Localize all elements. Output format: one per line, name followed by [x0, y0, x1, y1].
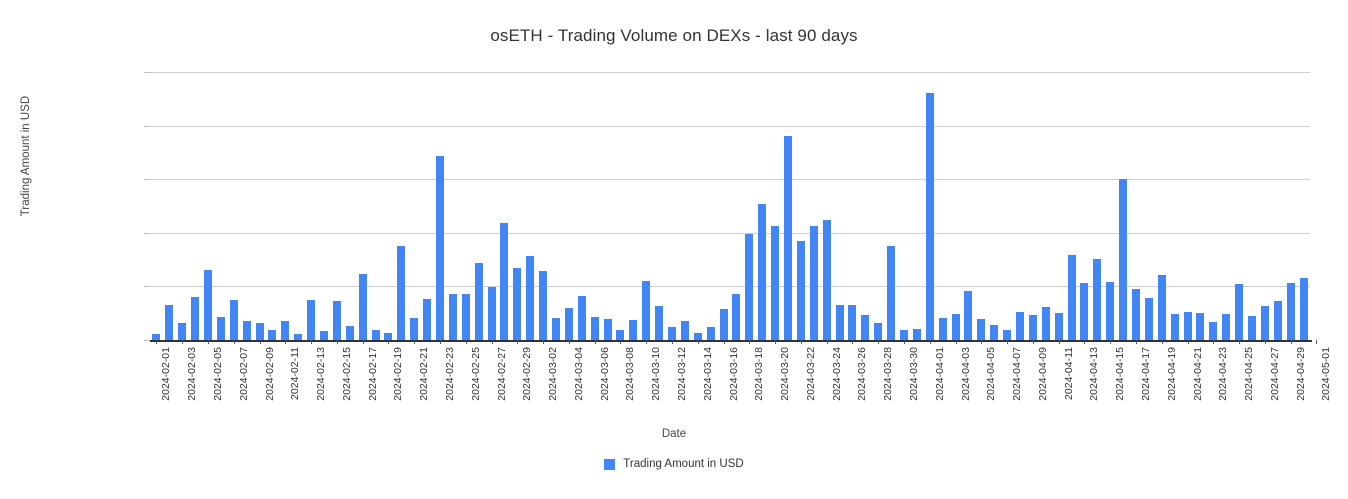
x-tick-mark	[208, 340, 209, 344]
bar[interactable]	[243, 321, 251, 340]
x-tick-label: 2024-02-23	[444, 347, 456, 401]
legend-swatch-icon	[604, 459, 615, 470]
bar[interactable]	[720, 309, 728, 340]
bar[interactable]	[1171, 314, 1179, 340]
legend-item[interactable]: Trading Amount in USD	[604, 458, 743, 470]
bar[interactable]	[694, 333, 702, 341]
x-tick-mark	[517, 340, 518, 344]
x-tick-label: 2024-04-05	[985, 347, 997, 401]
x-tick-mark	[595, 340, 596, 344]
bar[interactable]	[745, 234, 753, 340]
x-tick-label: 2024-03-14	[702, 347, 714, 401]
bar[interactable]	[526, 256, 534, 340]
bar[interactable]	[165, 305, 173, 340]
x-tick-label: 2024-03-28	[882, 347, 894, 401]
bar[interactable]	[642, 281, 650, 340]
bar[interactable]	[539, 271, 547, 340]
bar[interactable]	[732, 294, 740, 340]
x-tick-mark	[956, 340, 957, 344]
x-tick-label: 2024-04-13	[1088, 347, 1100, 401]
x-tick-label: 2024-03-02	[547, 347, 559, 401]
x-tick-mark	[466, 340, 467, 344]
gridline	[150, 179, 1310, 180]
bar[interactable]	[230, 300, 238, 340]
bar[interactable]	[939, 318, 947, 341]
bar[interactable]	[320, 331, 328, 340]
x-tick-label: 2024-03-20	[779, 347, 791, 401]
bar[interactable]	[810, 226, 818, 340]
x-tick-mark	[182, 340, 183, 344]
x-tick-mark	[1188, 340, 1189, 344]
x-tick-mark	[801, 340, 802, 344]
bar[interactable]	[178, 323, 186, 340]
x-tick-mark	[646, 340, 647, 344]
bar[interactable]	[952, 314, 960, 340]
x-tick-label: 2024-04-03	[960, 347, 972, 401]
bar[interactable]	[204, 270, 212, 340]
bar[interactable]	[1132, 289, 1140, 340]
x-tick-mark	[1059, 340, 1060, 344]
bar[interactable]	[977, 319, 985, 340]
x-tick-mark	[1265, 340, 1266, 344]
y-tick-mark	[144, 179, 150, 180]
bar[interactable]	[797, 241, 805, 340]
x-tick-mark	[1110, 340, 1111, 344]
bar[interactable]	[1106, 282, 1114, 340]
chart-legend: Trading Amount in USD	[0, 458, 1348, 473]
x-tick-label: 2024-03-12	[676, 347, 688, 401]
bar[interactable]	[823, 220, 831, 340]
bar[interactable]	[333, 301, 341, 340]
x-tick-mark	[1291, 340, 1292, 344]
x-tick-mark	[285, 340, 286, 344]
x-tick-mark	[363, 340, 364, 344]
y-tick-mark	[144, 126, 150, 127]
bar[interactable]	[604, 319, 612, 340]
bar[interactable]	[848, 305, 856, 340]
bar[interactable]	[372, 330, 380, 340]
bar[interactable]	[1003, 330, 1011, 340]
x-tick-label: 2024-05-01	[1320, 347, 1332, 401]
gridline	[150, 233, 1310, 234]
bar[interactable]	[1222, 314, 1230, 340]
x-tick-label: 2024-04-01	[934, 347, 946, 401]
bar[interactable]	[1029, 315, 1037, 340]
bar[interactable]	[1196, 313, 1204, 340]
x-tick-mark	[311, 340, 312, 344]
bar[interactable]	[990, 325, 998, 340]
y-axis-title: Trading Amount in USD	[20, 46, 32, 266]
x-tick-label: 2024-03-16	[728, 347, 740, 401]
bar[interactable]	[384, 333, 392, 341]
bar[interactable]	[887, 246, 895, 340]
x-tick-label: 2024-02-01	[160, 347, 172, 401]
x-tick-mark	[827, 340, 828, 344]
bar[interactable]	[1145, 298, 1153, 340]
x-tick-label: 2024-03-24	[831, 347, 843, 401]
bar[interactable]	[1016, 312, 1024, 340]
chart-container: osETH - Trading Volume on DEXs - last 90…	[0, 0, 1348, 499]
bar[interactable]	[449, 294, 457, 340]
x-tick-mark	[1239, 340, 1240, 344]
x-tick-mark	[672, 340, 673, 344]
x-tick-mark	[724, 340, 725, 344]
bar[interactable]	[462, 294, 470, 340]
x-tick-mark	[1084, 340, 1085, 344]
x-tick-mark	[878, 340, 879, 344]
bar[interactable]	[217, 317, 225, 340]
x-tick-mark	[543, 340, 544, 344]
x-tick-mark	[569, 340, 570, 344]
legend-label: Trading Amount in USD	[623, 458, 743, 470]
x-tick-mark	[698, 340, 699, 344]
bar[interactable]	[784, 136, 792, 340]
x-tick-label: 2024-03-18	[753, 347, 765, 401]
bar[interactable]	[1158, 275, 1166, 340]
x-tick-mark	[260, 340, 261, 344]
x-tick-mark	[620, 340, 621, 344]
bar[interactable]	[668, 327, 676, 340]
x-tick-label: 2024-02-17	[367, 347, 379, 401]
bar[interactable]	[629, 320, 637, 340]
bar[interactable]	[1274, 301, 1282, 340]
x-tick-label: 2024-03-10	[650, 347, 662, 401]
bar[interactable]	[397, 246, 405, 340]
bar[interactable]	[359, 274, 367, 340]
gridline	[150, 72, 1310, 73]
bar[interactable]	[1184, 312, 1192, 340]
bar[interactable]	[578, 296, 586, 340]
bar[interactable]	[552, 318, 560, 341]
x-axis-line	[150, 340, 1312, 342]
x-tick-label: 2024-02-19	[392, 347, 404, 401]
bar[interactable]	[1248, 316, 1256, 340]
x-tick-label: 2024-02-05	[212, 347, 224, 401]
x-tick-mark	[1316, 340, 1317, 344]
bar[interactable]	[1119, 179, 1127, 340]
bar[interactable]	[281, 321, 289, 340]
x-tick-label: 2024-04-29	[1295, 347, 1307, 401]
bar[interactable]	[616, 330, 624, 340]
y-tick-mark	[144, 286, 150, 287]
x-tick-label: 2024-03-04	[573, 347, 585, 401]
bar[interactable]	[1093, 259, 1101, 340]
x-tick-mark	[1162, 340, 1163, 344]
bar[interactable]	[410, 318, 418, 340]
x-tick-label: 2024-02-09	[264, 347, 276, 401]
bar[interactable]	[1235, 284, 1243, 340]
bar[interactable]	[964, 291, 972, 340]
bar[interactable]	[423, 299, 431, 340]
x-tick-label: 2024-04-09	[1037, 347, 1049, 401]
x-tick-mark	[156, 340, 157, 344]
x-tick-label: 2024-04-23	[1217, 347, 1229, 401]
x-tick-label: 2024-04-19	[1166, 347, 1178, 401]
bar[interactable]	[900, 330, 908, 340]
bar[interactable]	[436, 156, 444, 340]
bar[interactable]	[1068, 255, 1076, 340]
x-tick-mark	[981, 340, 982, 344]
x-tick-label: 2024-02-07	[238, 347, 250, 401]
plot-area	[150, 72, 1310, 340]
bar[interactable]	[256, 323, 264, 340]
bar[interactable]	[1287, 283, 1295, 340]
gridline	[150, 286, 1310, 287]
gridline	[150, 126, 1310, 127]
bar[interactable]	[268, 330, 276, 340]
x-tick-label: 2024-02-29	[521, 347, 533, 401]
bar[interactable]	[191, 297, 199, 340]
x-tick-label: 2024-04-25	[1243, 347, 1255, 401]
x-tick-mark	[930, 340, 931, 344]
x-axis-title: Date	[0, 428, 1348, 440]
x-tick-label: 2024-04-17	[1140, 347, 1152, 401]
x-tick-mark	[1007, 340, 1008, 344]
x-tick-mark	[1213, 340, 1214, 344]
x-tick-mark	[775, 340, 776, 344]
bar[interactable]	[861, 315, 869, 340]
bar[interactable]	[307, 300, 315, 340]
x-tick-label: 2024-03-08	[624, 347, 636, 401]
x-tick-mark	[904, 340, 905, 344]
x-tick-mark	[440, 340, 441, 344]
bar[interactable]	[513, 268, 521, 340]
x-tick-mark	[414, 340, 415, 344]
x-tick-mark	[234, 340, 235, 344]
y-tick-mark	[144, 233, 150, 234]
x-tick-label: 2024-04-27	[1269, 347, 1281, 401]
bar[interactable]	[913, 329, 921, 340]
x-tick-label: 2024-02-03	[186, 347, 198, 401]
x-tick-label: 2024-04-07	[1011, 347, 1023, 401]
x-tick-mark	[337, 340, 338, 344]
bar[interactable]	[1300, 278, 1308, 340]
bar[interactable]	[874, 323, 882, 340]
bar[interactable]	[565, 308, 573, 340]
bar[interactable]	[771, 226, 779, 340]
x-tick-label: 2024-02-21	[418, 347, 430, 401]
x-tick-label: 2024-02-11	[289, 347, 301, 400]
x-tick-label: 2024-04-21	[1192, 347, 1204, 401]
bar[interactable]	[655, 306, 663, 340]
chart-title: osETH - Trading Volume on DEXs - last 90…	[0, 26, 1348, 46]
x-tick-label: 2024-03-06	[599, 347, 611, 401]
bar[interactable]	[681, 321, 689, 340]
bar[interactable]	[1209, 322, 1217, 340]
x-tick-label: 2024-03-22	[805, 347, 817, 401]
bar[interactable]	[707, 327, 715, 340]
x-tick-label: 2024-03-26	[856, 347, 868, 401]
bar[interactable]	[1080, 283, 1088, 340]
x-tick-label: 2024-02-25	[470, 347, 482, 401]
bar[interactable]	[1042, 307, 1050, 340]
bar[interactable]	[1261, 306, 1269, 340]
x-tick-label: 2024-04-11	[1063, 347, 1075, 400]
bar[interactable]	[488, 287, 496, 340]
bar[interactable]	[836, 305, 844, 340]
x-tick-label: 2024-02-15	[341, 347, 353, 401]
x-tick-label: 2024-04-15	[1114, 347, 1126, 401]
bar[interactable]	[346, 326, 354, 340]
x-tick-mark	[749, 340, 750, 344]
bar[interactable]	[926, 93, 934, 340]
y-tick-mark	[144, 72, 150, 73]
x-tick-label: 2024-03-30	[908, 347, 920, 401]
bar[interactable]	[758, 204, 766, 340]
bar[interactable]	[475, 263, 483, 340]
x-tick-label: 2024-02-27	[496, 347, 508, 401]
bar[interactable]	[1055, 313, 1063, 340]
x-tick-mark	[492, 340, 493, 344]
x-tick-mark	[1136, 340, 1137, 344]
bar[interactable]	[500, 223, 508, 340]
x-tick-mark	[852, 340, 853, 344]
x-tick-label: 2024-02-13	[315, 347, 327, 401]
bar[interactable]	[591, 317, 599, 340]
x-tick-mark	[1033, 340, 1034, 344]
x-tick-mark	[388, 340, 389, 344]
